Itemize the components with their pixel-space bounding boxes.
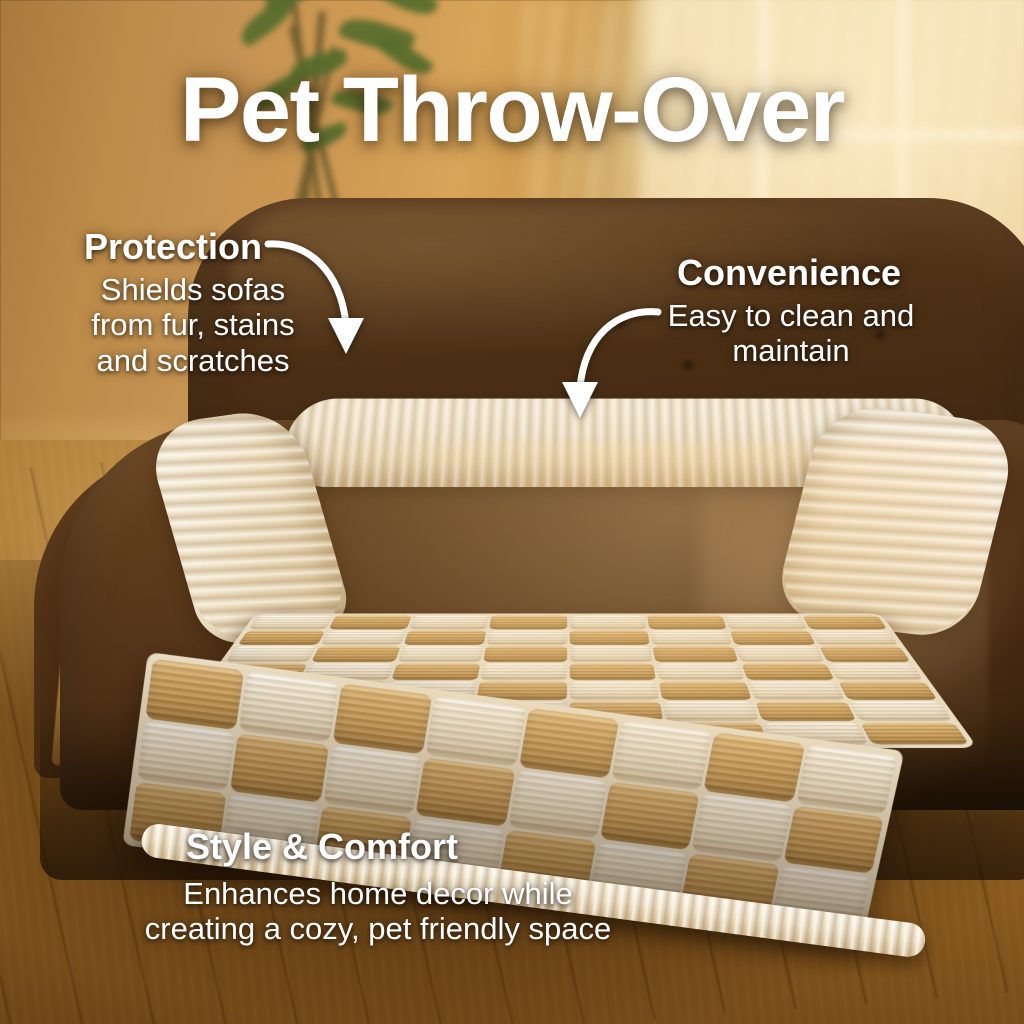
fabric-square-tan bbox=[329, 616, 412, 630]
fabric-square-tan bbox=[569, 663, 656, 680]
fabric-square-tan bbox=[730, 630, 816, 645]
fabric-square-cream bbox=[691, 793, 792, 862]
fabric-square-cream bbox=[796, 744, 898, 814]
fabric-square-cream bbox=[249, 616, 334, 630]
fabric-square-tan bbox=[819, 646, 911, 662]
fabric-square-tan bbox=[755, 702, 856, 722]
fabric-square-tan bbox=[802, 616, 887, 630]
fabric-square-tan bbox=[403, 630, 486, 645]
fabric-square-tan bbox=[230, 733, 329, 803]
fabric-square-cream bbox=[736, 646, 825, 662]
fabric-square-tan bbox=[145, 659, 244, 730]
fabric-square-tan bbox=[600, 781, 700, 850]
fabric-square-cream bbox=[650, 630, 733, 645]
callout-convenience-body: Easy to clean and maintain bbox=[636, 298, 946, 369]
fabric-square-cream bbox=[662, 702, 759, 722]
callout-convenience-heading: Convenience bbox=[648, 252, 930, 293]
fabric-square-cream bbox=[849, 702, 953, 722]
fabric-square-tan bbox=[703, 732, 805, 802]
fabric-square-cream bbox=[397, 646, 483, 662]
callout-style-comfort-heading: Style & Comfort bbox=[92, 826, 552, 867]
fabric-square-tan bbox=[652, 646, 738, 662]
callout-protection-heading: Protection bbox=[68, 226, 278, 267]
fabric-square-cream bbox=[137, 721, 236, 791]
fabric-square-tan bbox=[332, 683, 432, 754]
fabric-square-cream bbox=[569, 682, 659, 700]
fabric-square-cream bbox=[426, 696, 526, 766]
fabric-square-cream bbox=[569, 646, 653, 662]
fabric-square-cream bbox=[480, 663, 567, 680]
fabric-square-cream bbox=[569, 616, 647, 630]
fabric-square-tan bbox=[483, 646, 567, 662]
fabric-square-tan bbox=[783, 805, 884, 874]
curved-arrow-down-left-icon bbox=[566, 302, 676, 427]
fabric-square-tan bbox=[311, 646, 400, 662]
fabric-square-cream bbox=[810, 630, 898, 645]
fabric-square-tan bbox=[742, 663, 835, 680]
fabric-square-tan bbox=[237, 630, 325, 645]
fabric-square-tan bbox=[659, 682, 752, 700]
fabric-square-tan bbox=[860, 723, 969, 745]
fabric-square-cream bbox=[828, 663, 924, 680]
fabric-square-cream bbox=[320, 630, 406, 645]
infographic-canvas: Pet Throw-Over Protection Shields sofas … bbox=[0, 0, 1024, 1024]
fabric-square-cream bbox=[409, 616, 489, 630]
fabric-square-cream bbox=[486, 630, 567, 645]
fabric-square-tan bbox=[415, 757, 515, 826]
fabric-square-cream bbox=[611, 720, 712, 790]
fabric-square-cream bbox=[323, 745, 422, 815]
fabric-square-cream bbox=[225, 646, 317, 662]
fabric-square-tan bbox=[647, 616, 727, 630]
fabric-square-cream bbox=[656, 663, 746, 680]
fabric-square-tan bbox=[489, 616, 567, 630]
page-title: Pet Throw-Over bbox=[0, 58, 1024, 163]
fabric-square-cream bbox=[239, 671, 339, 742]
fabric-square-cream bbox=[748, 682, 845, 700]
fabric-square-tan bbox=[518, 708, 619, 778]
fabric-square-cream bbox=[725, 616, 808, 630]
callout-style-comfort-body: Enhances home decor while creating a coz… bbox=[68, 876, 688, 947]
fabric-square-tan bbox=[569, 630, 650, 645]
pet-throw-over-product bbox=[118, 352, 1018, 852]
curved-arrow-down-right-icon bbox=[262, 232, 372, 362]
fabric-square-tan bbox=[838, 682, 938, 700]
fabric-square-tan bbox=[391, 663, 481, 680]
